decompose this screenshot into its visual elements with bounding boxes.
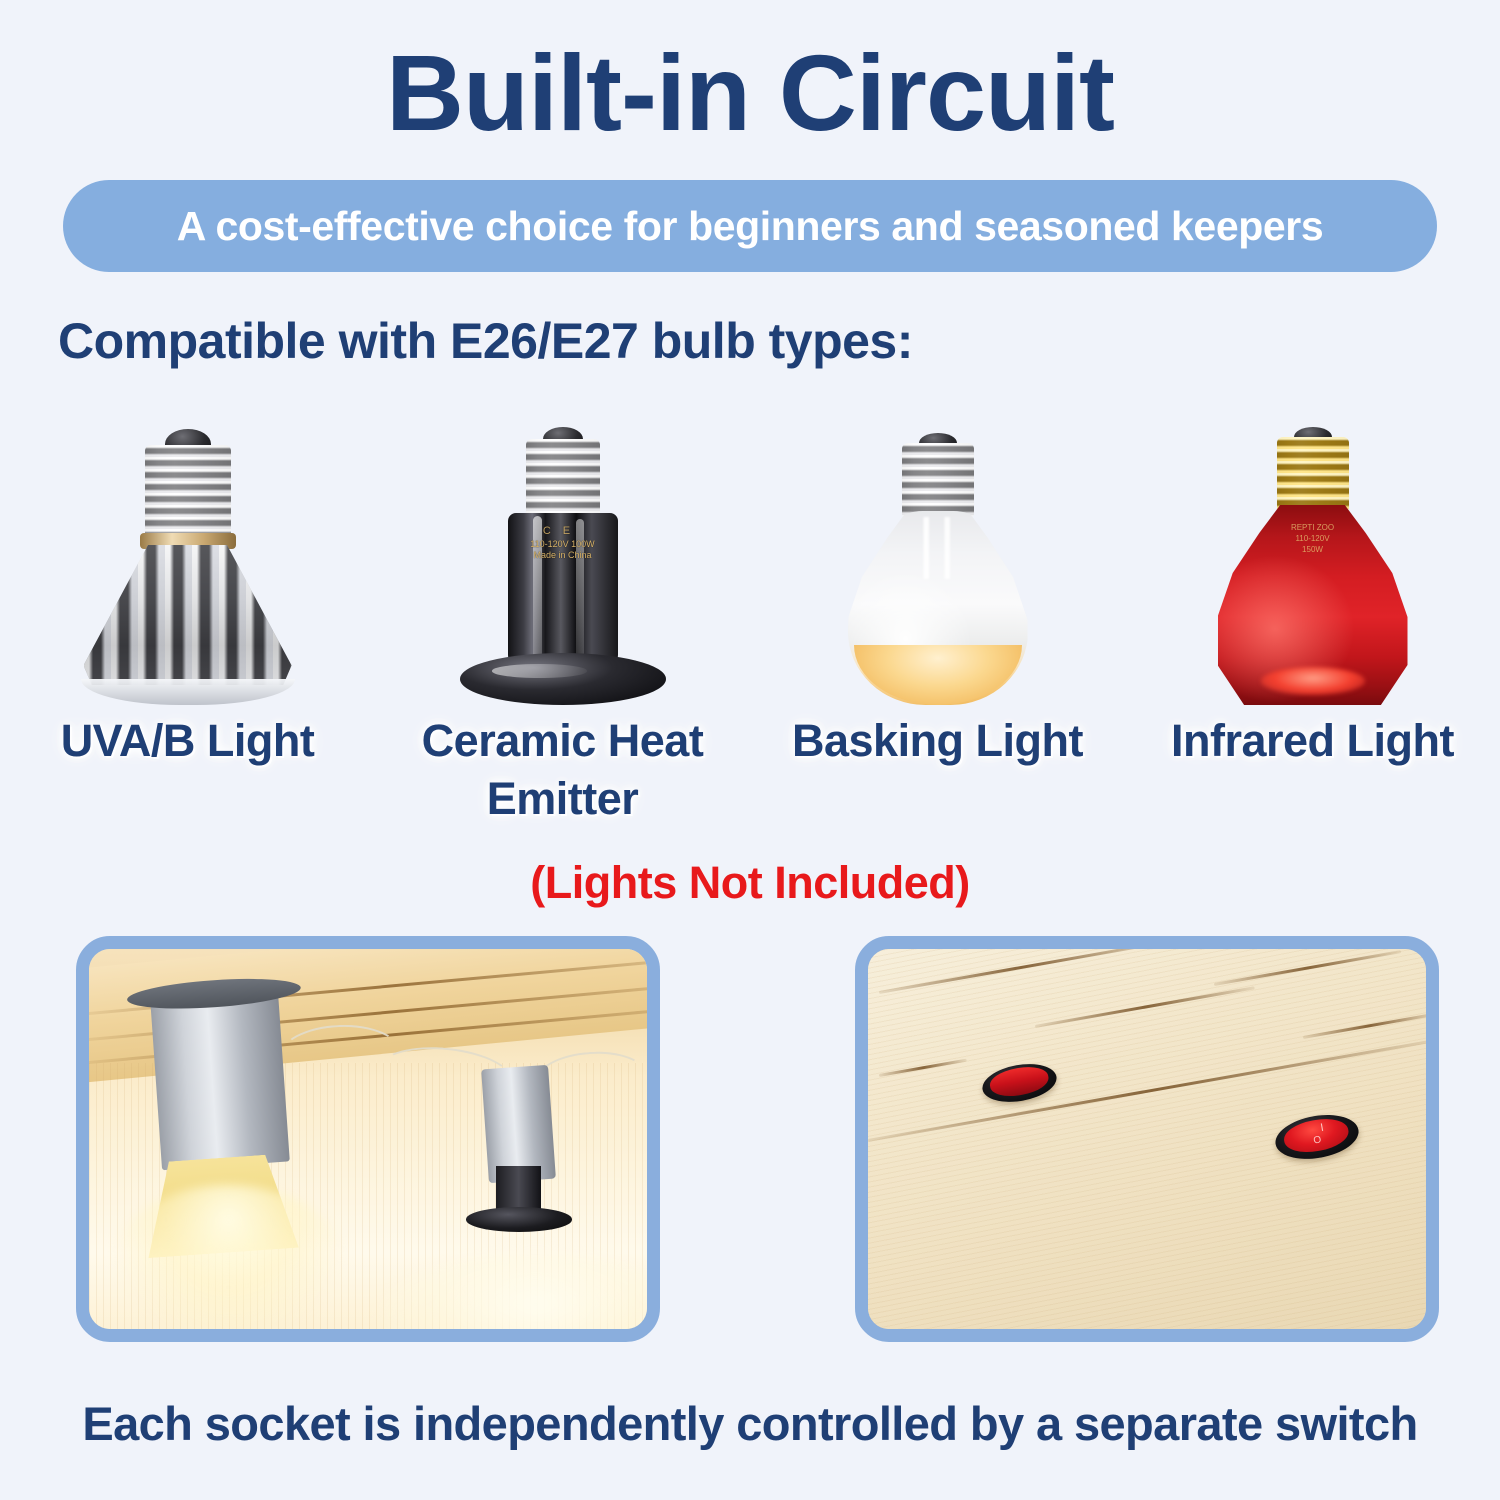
bulb-label-infrared: Infrared Light xyxy=(1125,712,1500,827)
subtitle-text: A cost-effective choice for beginners an… xyxy=(177,203,1323,250)
reflector-cone xyxy=(84,545,292,685)
ceramic-flange-base xyxy=(460,653,666,705)
infrared-brand-text: REPTI ZOO xyxy=(1253,523,1373,534)
bulb-cell-basking xyxy=(750,405,1125,705)
ceramic-emitter-flange xyxy=(466,1207,572,1232)
subtitle-banner: A cost-effective choice for beginners an… xyxy=(63,180,1437,272)
e27-screw-base-icon xyxy=(902,443,974,517)
e27-screw-base-icon xyxy=(1277,437,1349,511)
ceramic-print-block: CE 110-120V 100W Made in China xyxy=(503,525,623,561)
uvab-reflector-bulb-icon xyxy=(82,429,294,705)
switch-on-mark: I xyxy=(1320,1123,1325,1134)
warm-light-glow xyxy=(854,645,1022,705)
filament-support xyxy=(915,517,961,579)
infrared-voltage-text: 110-120V xyxy=(1253,534,1373,545)
infrared-bulb-icon: REPTI ZOO 110-120V 150W xyxy=(1217,427,1409,705)
bulb-cell-ceramic: CE 110-120V 100W Made in China xyxy=(375,405,750,705)
infrared-hotspot-glow xyxy=(1261,667,1365,695)
infographic-page: Built-in Circuit A cost-effective choice… xyxy=(0,0,1500,1500)
e27-screw-base-icon xyxy=(145,445,231,537)
bulb-label-uvab: UVA/B Light xyxy=(0,712,375,827)
ceramic-voltage-text: 110-120V 100W xyxy=(503,539,623,550)
lights-not-included-note: (Lights Not Included) xyxy=(0,857,1500,909)
reflector-rim xyxy=(81,679,295,705)
ceramic-origin-text: Made in China xyxy=(503,550,623,561)
footer-caption: Each socket is independently controlled … xyxy=(0,1396,1500,1451)
e27-screw-base-icon xyxy=(526,439,600,517)
bulb-type-row: CE 110-120V 100W Made in China xyxy=(0,405,1500,705)
ceramic-heat-emitter-icon: CE 110-120V 100W Made in China xyxy=(458,427,668,705)
ce-certification-mark: CE xyxy=(503,525,623,539)
page-title: Built-in Circuit xyxy=(0,36,1500,149)
rocker-switches-on-panel-photo: I O xyxy=(855,936,1439,1342)
bulb-cell-infrared: REPTI ZOO 110-120V 150W xyxy=(1125,405,1500,705)
lamp-sockets-in-enclosure-photo xyxy=(76,936,660,1342)
bulb-label-row: UVA/B Light Ceramic Heat Emitter Basking… xyxy=(0,712,1500,827)
basking-bulb-icon xyxy=(846,433,1030,705)
infrared-print-block: REPTI ZOO 110-120V 150W xyxy=(1253,523,1373,555)
bulb-label-basking: Basking Light xyxy=(750,712,1125,827)
switch-off-mark: O xyxy=(1313,1135,1322,1146)
lamp-socket xyxy=(150,990,290,1170)
bulb-cell-uvab xyxy=(0,405,375,705)
bulb-label-ceramic: Ceramic Heat Emitter xyxy=(375,712,750,827)
infrared-wattage-text: 150W xyxy=(1253,545,1373,556)
section-heading: Compatible with E26/E27 bulb types: xyxy=(58,312,913,370)
